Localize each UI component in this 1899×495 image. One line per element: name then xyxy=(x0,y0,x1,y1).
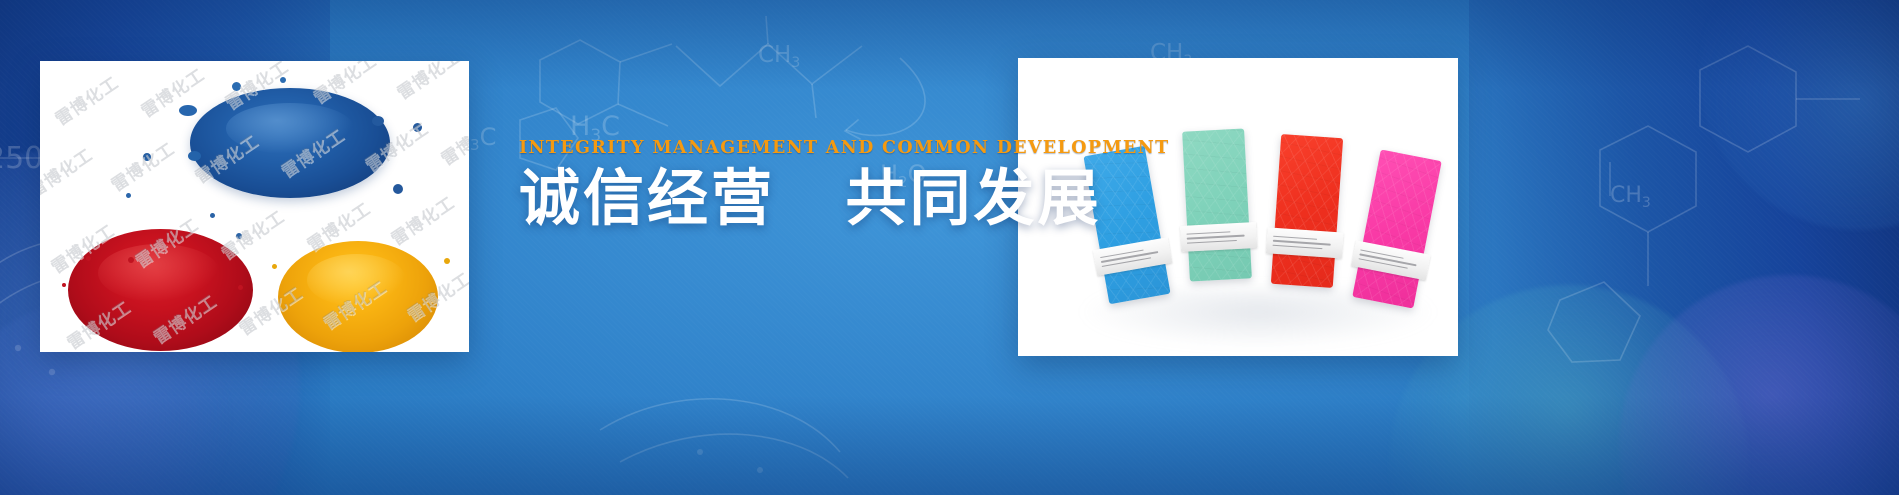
swatch-texture xyxy=(1271,134,1343,288)
swatch-mint xyxy=(1182,128,1252,281)
powder-speck xyxy=(393,184,403,194)
banner-text-block: INTEGRITY MANAGEMENT AND COMMON DEVELOPM… xyxy=(519,138,1019,232)
powder-speck xyxy=(232,82,241,91)
swatch-texture xyxy=(1182,128,1252,281)
powder-speck xyxy=(126,193,131,198)
swatch-red xyxy=(1271,134,1343,288)
powder-speck xyxy=(444,258,450,264)
pigment-powder-photo: 雷博化工 雷博化工 雷博化工 雷博化工 雷博化工 雷博化工 雷博化工 雷博化工 … xyxy=(40,61,469,352)
powder-speck xyxy=(143,153,151,161)
powder-speck xyxy=(272,264,277,269)
swatch-label-band xyxy=(1266,227,1344,258)
yellow-pigment-pile xyxy=(278,241,438,352)
banner-tagline: INTEGRITY MANAGEMENT AND COMMON DEVELOPM… xyxy=(519,138,1019,158)
blue-pigment-pile xyxy=(190,88,390,198)
swatch-texture xyxy=(1352,149,1441,308)
powder-speck xyxy=(238,285,243,290)
powder-speck xyxy=(128,257,134,263)
banner-headline: 诚信经营 共同发展 xyxy=(519,166,1019,232)
swatch-label-band xyxy=(1180,222,1257,252)
promo-banner: 250 H3C H3C CH3 CH3 H2O H2O H3C H2O CH3 xyxy=(0,0,1899,495)
powder-speck xyxy=(280,77,286,83)
powder-speck xyxy=(188,151,201,161)
powder-speck xyxy=(86,256,91,261)
photo-left-canvas xyxy=(40,61,469,352)
powder-speck xyxy=(210,213,215,218)
powder-speck xyxy=(413,123,422,132)
swatch-pink xyxy=(1352,149,1441,308)
powder-speck xyxy=(179,105,197,116)
powder-speck xyxy=(372,116,384,126)
powder-speck xyxy=(62,283,66,287)
red-pigment-pile xyxy=(68,229,253,351)
headline-part-2: 共同发展 xyxy=(846,163,1102,234)
powder-speck xyxy=(236,233,242,239)
headline-part-1: 诚信经营 xyxy=(519,163,775,234)
